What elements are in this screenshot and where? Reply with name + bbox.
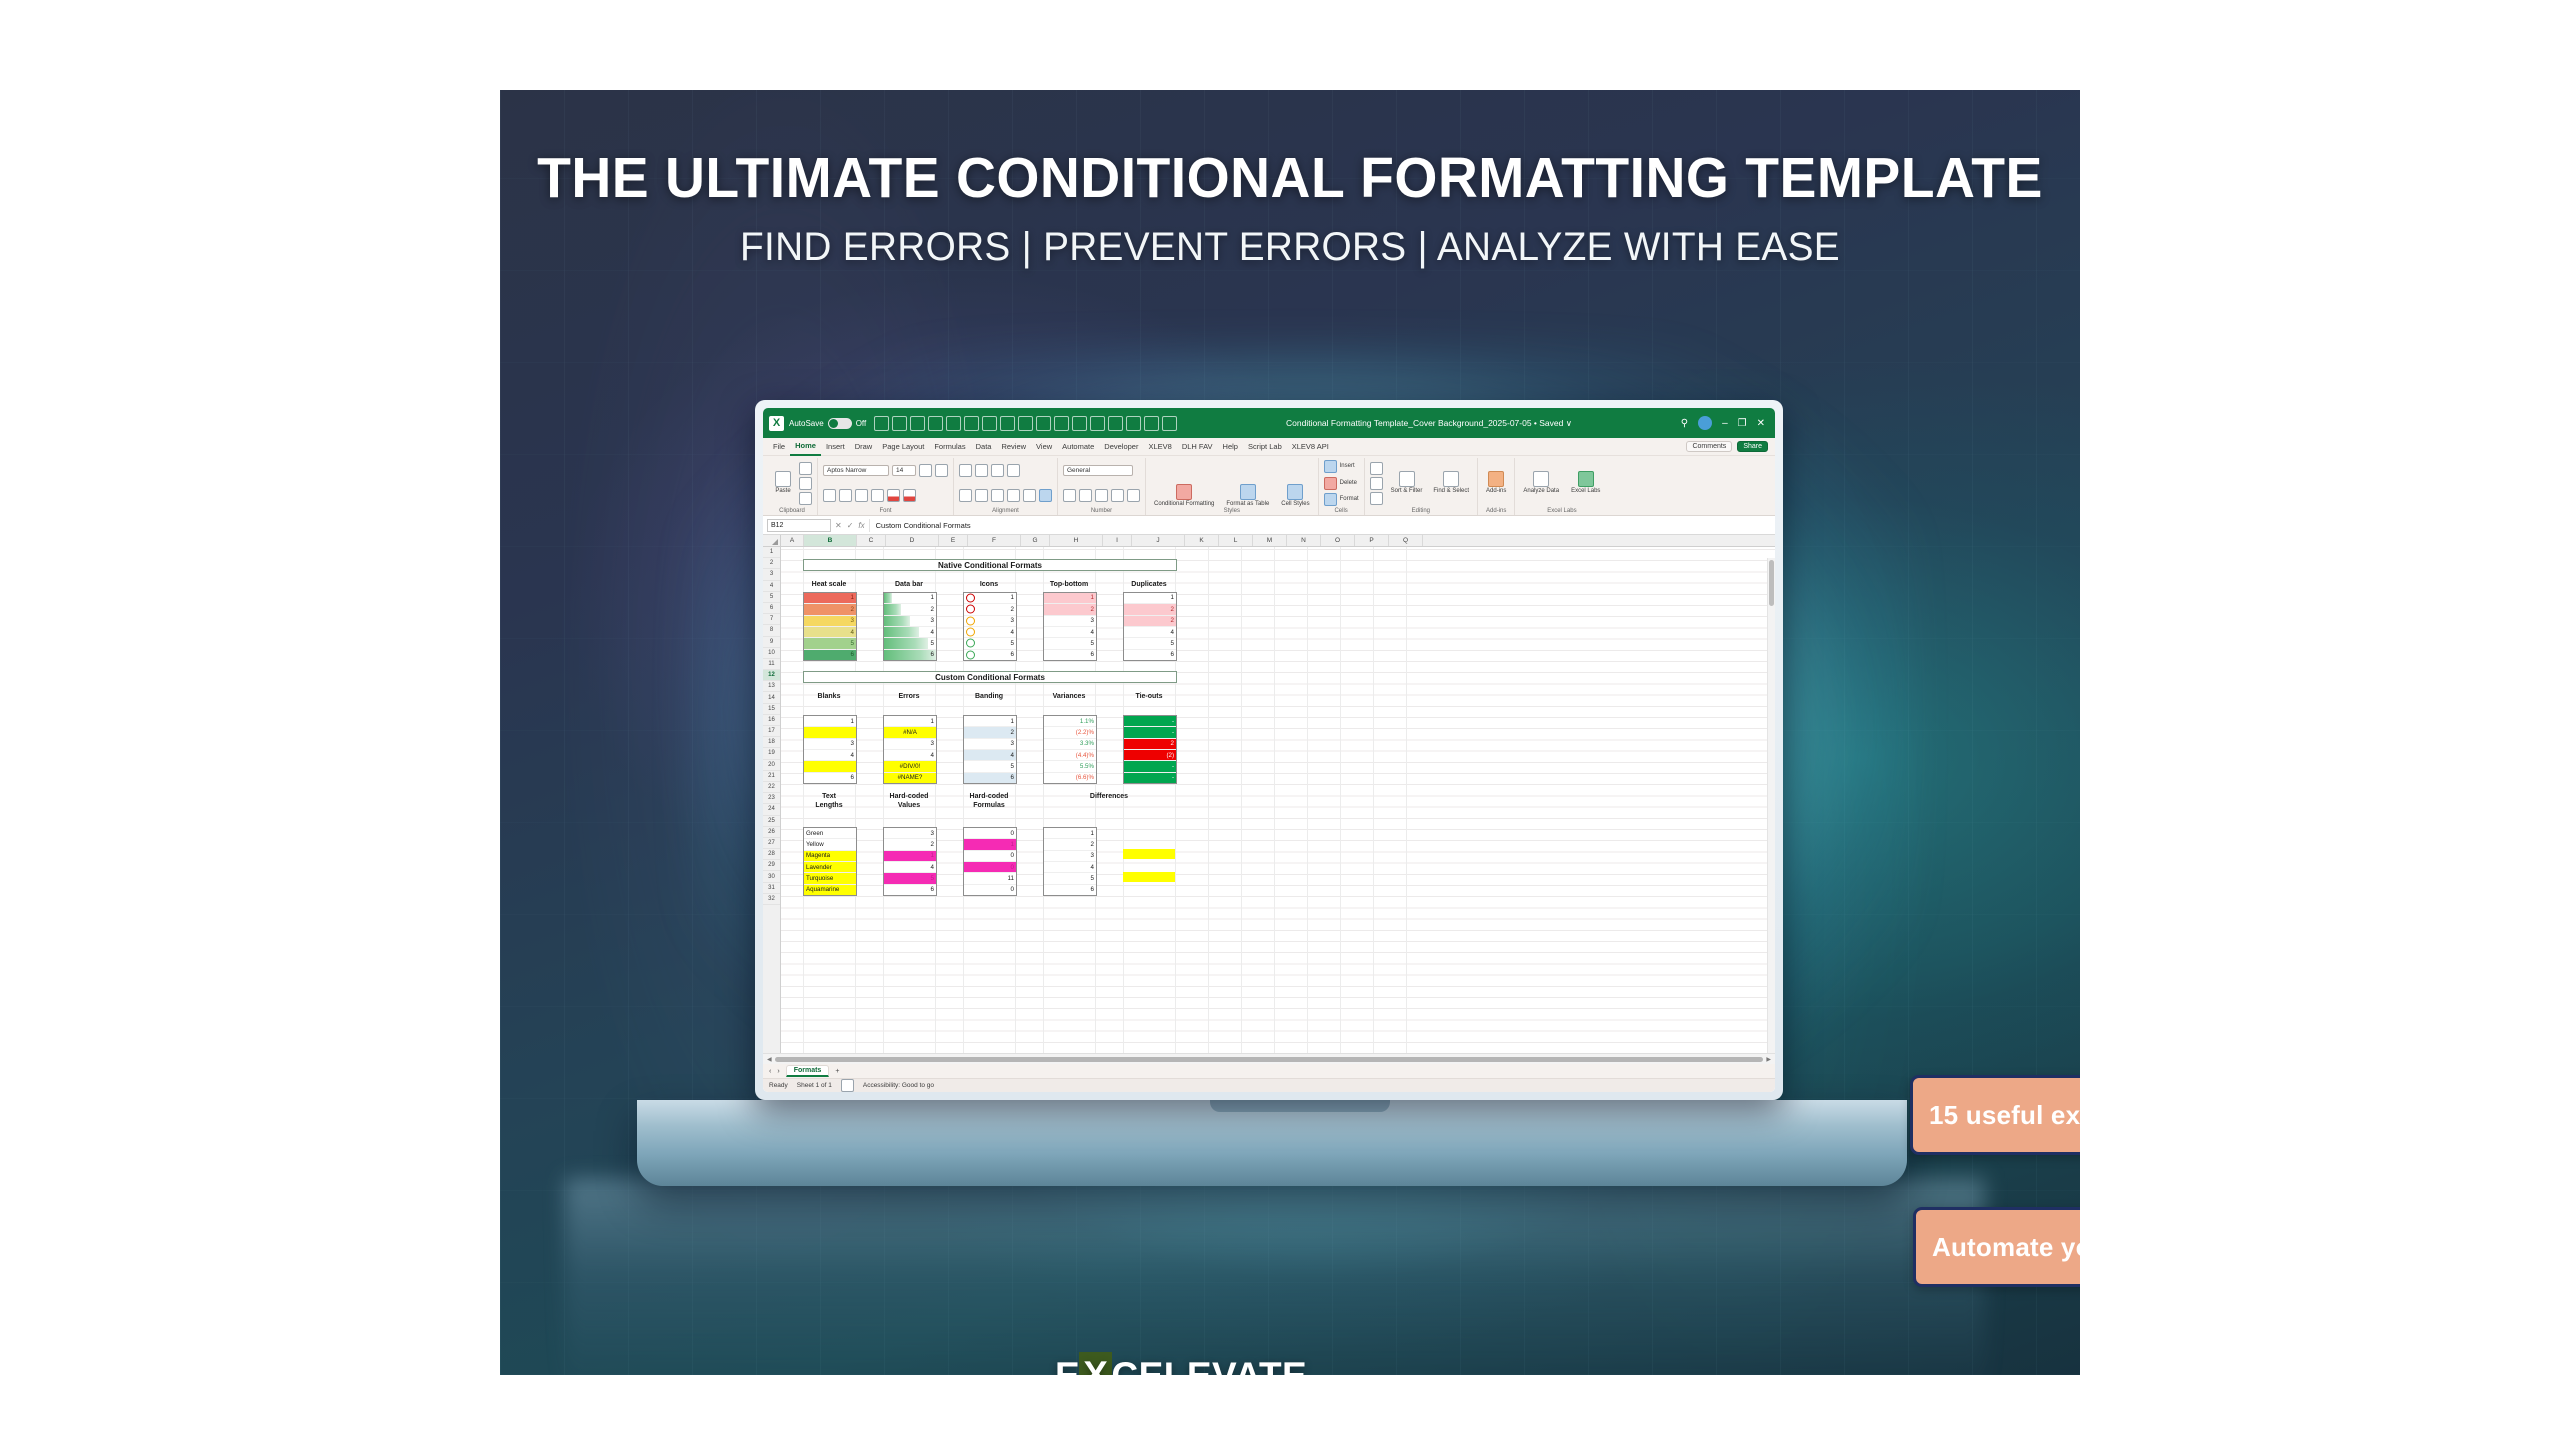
close-button[interactable]: ✕ bbox=[1757, 418, 1765, 429]
find-select-button[interactable]: Find & Select bbox=[1430, 471, 1472, 495]
table-icons[interactable]: 123456 bbox=[963, 592, 1017, 661]
cell-value: 3 bbox=[931, 830, 934, 837]
insert-cells-label[interactable]: Insert bbox=[1340, 463, 1355, 470]
cell-data-bar-1[interactable]: 1 bbox=[884, 593, 936, 604]
table-banding[interactable]: 123456 bbox=[963, 715, 1017, 784]
formula-input[interactable]: Custom Conditional Formats bbox=[869, 519, 1771, 532]
slide-background: THE ULTIMATE CONDITIONAL FORMATTING TEMP… bbox=[500, 90, 2080, 1375]
row-header-28[interactable]: 28 bbox=[763, 849, 780, 860]
cell-heat-scale-2[interactable]: 2 bbox=[804, 604, 856, 615]
align-right-icon[interactable] bbox=[991, 489, 1004, 502]
ribbon-group-styles: Conditional Formatting Format as Table C… bbox=[1146, 458, 1319, 515]
cell-heat-scale-6[interactable]: 6 bbox=[804, 650, 856, 660]
qat-new-icon[interactable] bbox=[892, 416, 907, 431]
sheet-tab-bar[interactable]: ‹ › Formats + bbox=[763, 1064, 1775, 1078]
cell-banding-5[interactable]: 5 bbox=[964, 761, 1016, 772]
fill-color-icon[interactable] bbox=[887, 489, 900, 502]
decrease-decimal-icon[interactable] bbox=[1127, 489, 1140, 502]
underline-icon[interactable] bbox=[855, 489, 868, 502]
accounting-format-icon[interactable] bbox=[1063, 489, 1076, 502]
ribbon-group-alignment: Alignment bbox=[954, 458, 1058, 515]
cut-icon[interactable] bbox=[799, 462, 812, 475]
select-all-corner[interactable] bbox=[763, 535, 781, 546]
delete-cells-label[interactable]: Delete bbox=[1340, 480, 1357, 487]
cell-top-bottom-1[interactable]: 1 bbox=[1044, 593, 1096, 604]
quick-access-toolbar[interactable] bbox=[874, 416, 1177, 431]
qat-open-icon[interactable] bbox=[910, 416, 925, 431]
cell-hard-coded-formulas-6[interactable]: 0 bbox=[964, 885, 1016, 895]
cell-differences-3[interactable]: 3 bbox=[1044, 851, 1096, 862]
insert-function-icon[interactable]: fx bbox=[858, 521, 864, 530]
status-accessibility[interactable]: Accessibility: Good to go bbox=[863, 1082, 934, 1089]
tab-script-lab[interactable]: Script Lab bbox=[1243, 438, 1287, 455]
horizontal-scroll-thumb[interactable] bbox=[775, 1057, 1764, 1062]
cell-icons-1[interactable]: 1 bbox=[964, 593, 1016, 604]
qat-grid-icon[interactable] bbox=[1162, 416, 1177, 431]
vertical-scrollbar[interactable] bbox=[1767, 558, 1775, 1053]
row-header-20[interactable]: 20 bbox=[763, 760, 780, 771]
row-header-17[interactable]: 17 bbox=[763, 726, 780, 737]
align-middle-icon[interactable] bbox=[975, 464, 988, 477]
cell-hard-coded-values-1[interactable]: 3 bbox=[884, 828, 936, 839]
sheet-cells-area[interactable]: Native Conditional FormatsCustom Conditi… bbox=[781, 547, 1775, 1053]
cell-value: 4 bbox=[851, 752, 854, 759]
autosum-icon[interactable] bbox=[1370, 462, 1383, 475]
table-text-lengths[interactable]: GreenYellowMagentaLavenderTurquoiseAquam… bbox=[803, 827, 857, 896]
cell-duplicates-2[interactable]: 2 bbox=[1124, 604, 1176, 615]
cell-icons-6[interactable]: 6 bbox=[964, 650, 1016, 660]
insert-cells-icon[interactable] bbox=[1324, 460, 1337, 473]
horizontal-scrollbar[interactable]: ◀ ▶ bbox=[763, 1053, 1775, 1064]
column-header-e[interactable]: E bbox=[939, 535, 968, 546]
excelevate-logo: EXCELEVATE bbox=[1055, 1352, 1307, 1375]
cell-errors-3[interactable]: 3 bbox=[884, 739, 936, 750]
column-header-c[interactable]: C bbox=[857, 535, 886, 546]
cell-banding-4[interactable]: 4 bbox=[964, 750, 1016, 761]
table-differences[interactable]: 123456 bbox=[1043, 827, 1097, 896]
format-cells-icon[interactable] bbox=[1324, 493, 1337, 506]
cell-differences-6[interactable]: 6 bbox=[1044, 885, 1096, 895]
table-hard-coded-formulas[interactable]: 0100110 bbox=[963, 827, 1017, 896]
cell-tie-outs-3[interactable]: 2 bbox=[1124, 739, 1176, 750]
increase-font-icon[interactable] bbox=[919, 464, 932, 477]
borders-icon[interactable] bbox=[871, 489, 884, 502]
search-icon[interactable]: ⚲ bbox=[1681, 418, 1688, 429]
row-header-8[interactable]: 8 bbox=[763, 625, 780, 636]
row-header-23[interactable]: 23 bbox=[763, 793, 780, 804]
cell-tie-outs-2[interactable]: - bbox=[1124, 727, 1176, 738]
column-header-g[interactable]: G bbox=[1021, 535, 1050, 546]
cell-banding-6[interactable]: 6 bbox=[964, 773, 1016, 783]
table-duplicates[interactable]: 122456 bbox=[1123, 592, 1177, 661]
qat-redo-icon[interactable] bbox=[982, 416, 997, 431]
tab-home[interactable]: Home bbox=[790, 437, 821, 456]
col-label-blanks: Blanks bbox=[803, 692, 855, 701]
row-header-31[interactable]: 31 bbox=[763, 883, 780, 894]
column-header-h[interactable]: H bbox=[1050, 535, 1103, 546]
row-header-4[interactable]: 4 bbox=[763, 581, 780, 592]
row-header-15[interactable]: 15 bbox=[763, 704, 780, 715]
excel-labs-button[interactable]: Excel Labs bbox=[1568, 471, 1603, 495]
cell-duplicates-3[interactable]: 2 bbox=[1124, 616, 1176, 627]
cell-icons-2[interactable]: 2 bbox=[964, 604, 1016, 615]
cell-heat-scale-1[interactable]: 1 bbox=[804, 593, 856, 604]
cell-banding-3[interactable]: 3 bbox=[964, 739, 1016, 750]
align-center-icon[interactable] bbox=[975, 489, 988, 502]
align-left-icon[interactable] bbox=[959, 489, 972, 502]
cell-value: 2 bbox=[1171, 740, 1174, 747]
format-painter-icon[interactable] bbox=[799, 492, 812, 505]
row-header-16[interactable]: 16 bbox=[763, 715, 780, 726]
grid-body[interactable]: 1234567891011121314151617181920212223242… bbox=[763, 547, 1775, 1053]
tab-file[interactable]: File bbox=[768, 438, 790, 455]
align-bottom-icon[interactable] bbox=[991, 464, 1004, 477]
cell-data-bar-4[interactable]: 4 bbox=[884, 627, 936, 638]
cell-top-bottom-2[interactable]: 2 bbox=[1044, 604, 1096, 615]
cancel-icon[interactable]: ✕ bbox=[835, 521, 842, 530]
cell-variances-4[interactable]: (4.4)% bbox=[1044, 750, 1096, 761]
table-variances[interactable]: 1.1%(2.2)%3.3%(4.4)%5.5%(6.6)% bbox=[1043, 715, 1097, 784]
qat-save-icon[interactable] bbox=[928, 416, 943, 431]
tab-developer[interactable]: Developer bbox=[1099, 438, 1143, 455]
increase-indent-icon[interactable] bbox=[1023, 489, 1036, 502]
tab-help[interactable]: Help bbox=[1218, 438, 1243, 455]
cell-data-bar-6[interactable]: 6 bbox=[884, 650, 936, 660]
bold-icon[interactable] bbox=[823, 489, 836, 502]
column-header-p[interactable]: P bbox=[1355, 535, 1389, 546]
cell-variances-6[interactable]: (6.6)% bbox=[1044, 773, 1096, 783]
enter-icon[interactable]: ✓ bbox=[847, 521, 854, 530]
column-header-j[interactable]: J bbox=[1132, 535, 1185, 546]
conditional-formatting-icon bbox=[1176, 484, 1192, 500]
cell-blanks-1[interactable]: 1 bbox=[804, 716, 856, 727]
cell-text-lengths-3[interactable]: Magenta bbox=[804, 851, 856, 862]
group-label-editing: Editing bbox=[1370, 508, 1472, 515]
column-header-b[interactable]: B bbox=[804, 535, 857, 546]
qat-menu-icon[interactable] bbox=[874, 416, 889, 431]
row-header-24[interactable]: 24 bbox=[763, 804, 780, 815]
qat-filter-icon[interactable] bbox=[1108, 416, 1123, 431]
font-name-box[interactable]: Aptos Narrow bbox=[823, 465, 889, 476]
hscroll-right-arrow[interactable]: ▶ bbox=[1766, 1056, 1771, 1063]
cell-hard-coded-formulas-3[interactable]: 0 bbox=[964, 851, 1016, 862]
cell-value: 2 bbox=[1011, 729, 1014, 736]
cell-banding-1[interactable]: 1 bbox=[964, 716, 1016, 727]
copy-icon[interactable] bbox=[799, 477, 812, 490]
tab-xlev8[interactable]: XLEV8 bbox=[1143, 438, 1176, 455]
cell-errors-4[interactable]: 4 bbox=[884, 750, 936, 761]
databar-data-bar-3 bbox=[884, 616, 910, 626]
cell-variances-2[interactable]: (2.2)% bbox=[1044, 727, 1096, 738]
cell-tie-outs-4[interactable]: (2) bbox=[1124, 750, 1176, 761]
cell-styles-button[interactable]: Cell Styles bbox=[1278, 484, 1312, 508]
cell-duplicates-4[interactable]: 4 bbox=[1124, 627, 1176, 638]
font-size-box[interactable]: 14 bbox=[892, 465, 916, 476]
cell-hard-coded-values-4[interactable]: 4 bbox=[884, 862, 936, 873]
column-header-i[interactable]: I bbox=[1103, 535, 1132, 546]
cell-differences-4[interactable]: 4 bbox=[1044, 862, 1096, 873]
row-header-29[interactable]: 29 bbox=[763, 860, 780, 871]
row-header-13[interactable]: 13 bbox=[763, 681, 780, 692]
restore-button[interactable]: ❐ bbox=[1738, 418, 1747, 429]
cell-errors-6[interactable]: #NAME? bbox=[884, 773, 936, 783]
cell-blanks-3[interactable]: 3 bbox=[804, 739, 856, 750]
cell-text-lengths-2[interactable]: Yellow bbox=[804, 839, 856, 850]
italic-icon[interactable] bbox=[839, 489, 852, 502]
cell-icons-4[interactable]: 4 bbox=[964, 627, 1016, 638]
analyze-data-icon bbox=[1533, 471, 1549, 487]
cell-duplicates-6[interactable]: 6 bbox=[1124, 650, 1176, 660]
cell-heat-scale-3[interactable]: 3 bbox=[804, 616, 856, 627]
cell-icons-3[interactable]: 3 bbox=[964, 616, 1016, 627]
column-headers[interactable]: ABCDEFGHIJKLMNOPQ bbox=[763, 535, 1775, 547]
minimize-button[interactable]: – bbox=[1722, 418, 1728, 429]
paste-button[interactable]: Paste bbox=[772, 471, 794, 495]
row-header-30[interactable]: 30 bbox=[763, 871, 780, 882]
decrease-indent-icon[interactable] bbox=[1007, 489, 1020, 502]
cell-hard-coded-formulas-5[interactable]: 11 bbox=[964, 873, 1016, 884]
qat-saveas-icon[interactable] bbox=[946, 416, 961, 431]
delete-cells-icon[interactable] bbox=[1324, 477, 1337, 490]
cell-heat-scale-4[interactable]: 4 bbox=[804, 627, 856, 638]
row-header-25[interactable]: 25 bbox=[763, 816, 780, 827]
cell-banding-2[interactable]: 2 bbox=[964, 727, 1016, 738]
decrease-font-icon[interactable] bbox=[935, 464, 948, 477]
autosave-switch[interactable] bbox=[828, 418, 852, 429]
column-header-o[interactable]: O bbox=[1321, 535, 1355, 546]
cell-variances-5[interactable]: 5.5% bbox=[1044, 761, 1096, 772]
cell-tie-outs-1[interactable]: - bbox=[1124, 716, 1176, 727]
cell-value: 1.1% bbox=[1080, 718, 1094, 725]
row-header-6[interactable]: 6 bbox=[763, 603, 780, 614]
record-macro-icon[interactable] bbox=[841, 1079, 854, 1092]
hscroll-left-arrow[interactable]: ◀ bbox=[767, 1056, 772, 1063]
laptop-mockup: X AutoSave Off bbox=[755, 400, 1845, 1160]
cell-blanks-6[interactable]: 6 bbox=[804, 773, 856, 783]
formula-bar-icons[interactable]: ✕ ✓ fx bbox=[835, 521, 865, 530]
qat-undo-icon[interactable] bbox=[964, 416, 979, 431]
cell-hard-coded-values-5[interactable]: 5 bbox=[884, 873, 936, 884]
row-header-9[interactable]: 9 bbox=[763, 637, 780, 648]
row-header-10[interactable]: 10 bbox=[763, 648, 780, 659]
column-header-l[interactable]: L bbox=[1219, 535, 1253, 546]
add-sheet-button[interactable]: + bbox=[835, 1068, 839, 1075]
cell-duplicates-1[interactable]: 1 bbox=[1124, 593, 1176, 604]
cell-blanks-5[interactable] bbox=[804, 761, 856, 772]
fill-icon[interactable] bbox=[1370, 477, 1383, 490]
cell-text-lengths-5[interactable]: Turquoise bbox=[804, 873, 856, 884]
formula-bar[interactable]: B12 ✕ ✓ fx Custom Conditional Formats bbox=[763, 516, 1775, 535]
cell-hard-coded-values-2[interactable]: 2 bbox=[884, 839, 936, 850]
cell-value: 0 bbox=[1011, 830, 1014, 837]
qat-macro-icon[interactable] bbox=[1144, 416, 1159, 431]
cell-top-bottom-5[interactable]: 5 bbox=[1044, 638, 1096, 649]
conditional-formatting-button[interactable]: Conditional Formatting bbox=[1151, 484, 1217, 508]
qat-table-icon[interactable] bbox=[1054, 416, 1069, 431]
table-hard-coded-values[interactable]: 321456 bbox=[883, 827, 937, 896]
qat-paste-icon[interactable] bbox=[1000, 416, 1015, 431]
row-headers[interactable]: 1234567891011121314151617181920212223242… bbox=[763, 547, 781, 1053]
add-ins-button[interactable]: Add-ins bbox=[1483, 471, 1509, 495]
tab-draw[interactable]: Draw bbox=[850, 438, 878, 455]
cell-differences-2[interactable]: 2 bbox=[1044, 839, 1096, 850]
table-tie-outs[interactable]: --2(2)-- bbox=[1123, 715, 1177, 784]
ribbon-tab-strip[interactable]: File Home Insert Draw Page Layout Formul… bbox=[763, 438, 1775, 456]
row-header-1[interactable]: 1 bbox=[763, 547, 780, 558]
cell-top-bottom-6[interactable]: 6 bbox=[1044, 650, 1096, 660]
font-color-icon[interactable] bbox=[903, 489, 916, 502]
format-as-table-button[interactable]: Format as Table bbox=[1223, 484, 1272, 508]
column-header-a[interactable]: A bbox=[781, 535, 804, 546]
icon-yellow-icons-4 bbox=[966, 628, 975, 637]
row-header-14[interactable]: 14 bbox=[763, 692, 780, 703]
cell-differences-1[interactable]: 1 bbox=[1044, 828, 1096, 839]
cell-data-bar-5[interactable]: 5 bbox=[884, 638, 936, 649]
percent-format-icon[interactable] bbox=[1079, 489, 1092, 502]
row-header-5[interactable]: 5 bbox=[763, 592, 780, 603]
row-header-7[interactable]: 7 bbox=[763, 614, 780, 625]
row-header-18[interactable]: 18 bbox=[763, 737, 780, 748]
ribbon-group-editing: Sort & Filter Find & Select Editing bbox=[1365, 458, 1478, 515]
cell-hard-coded-values-6[interactable]: 6 bbox=[884, 885, 936, 895]
number-format-box[interactable]: General bbox=[1063, 465, 1133, 476]
cell-value: 5 bbox=[1011, 763, 1014, 770]
cell-hard-coded-values-3[interactable]: 1 bbox=[884, 851, 936, 862]
cell-differences-5[interactable]: 5 bbox=[1044, 873, 1096, 884]
cell-errors-1[interactable]: 1 bbox=[884, 716, 936, 727]
cell-top-bottom-4[interactable]: 4 bbox=[1044, 627, 1096, 638]
prev-sheet-arrow[interactable]: ‹ bbox=[769, 1068, 771, 1075]
cell-duplicates-5[interactable]: 5 bbox=[1124, 638, 1176, 649]
cell-value: 3 bbox=[1011, 740, 1014, 747]
tab-formulas[interactable]: Formulas bbox=[929, 438, 970, 455]
column-header-n[interactable]: N bbox=[1287, 535, 1321, 546]
row-header-3[interactable]: 3 bbox=[763, 569, 780, 580]
ribbon-right-actions[interactable]: Comments Share bbox=[1686, 441, 1770, 452]
tab-xlev8-api[interactable]: XLEV8 API bbox=[1287, 438, 1334, 455]
analyze-data-button[interactable]: Analyze Data bbox=[1520, 471, 1562, 495]
name-box[interactable]: B12 bbox=[767, 519, 831, 532]
comma-format-icon[interactable] bbox=[1095, 489, 1108, 502]
next-sheet-arrow[interactable]: › bbox=[777, 1068, 779, 1075]
cell-blanks-2[interactable] bbox=[804, 727, 856, 738]
cell-icons-5[interactable]: 5 bbox=[964, 638, 1016, 649]
window-controls[interactable]: ⚲ – ❐ ✕ bbox=[1681, 416, 1769, 430]
tab-data[interactable]: Data bbox=[971, 438, 997, 455]
row-header-27[interactable]: 27 bbox=[763, 838, 780, 849]
tab-view[interactable]: View bbox=[1031, 438, 1057, 455]
orientation-icon[interactable] bbox=[1007, 464, 1020, 477]
cell-variances-3[interactable]: 3.3% bbox=[1044, 739, 1096, 750]
cell-styles-icon bbox=[1287, 484, 1303, 500]
icon-green-icons-5 bbox=[966, 639, 975, 648]
cell-hard-coded-formulas-1[interactable]: 0 bbox=[964, 828, 1016, 839]
cell-blanks-4[interactable]: 4 bbox=[804, 750, 856, 761]
merge-center-icon[interactable] bbox=[1039, 489, 1052, 502]
column-header-q[interactable]: Q bbox=[1389, 535, 1423, 546]
tab-automate[interactable]: Automate bbox=[1057, 438, 1099, 455]
table-errors[interactable]: 1#N/A34#DIV/0!#NAME? bbox=[883, 715, 937, 784]
column-header-m[interactable]: M bbox=[1253, 535, 1287, 546]
ribbon-body[interactable]: Paste Clipboard bbox=[763, 456, 1775, 516]
cell-errors-2[interactable]: #N/A bbox=[884, 727, 936, 738]
row-header-19[interactable]: 19 bbox=[763, 748, 780, 759]
qat-print-icon[interactable] bbox=[1126, 416, 1141, 431]
row-header-26[interactable]: 26 bbox=[763, 827, 780, 838]
cell-value: 5 bbox=[1091, 875, 1094, 882]
row-header-32[interactable]: 32 bbox=[763, 894, 780, 905]
format-cells-label[interactable]: Format bbox=[1340, 496, 1359, 503]
qat-sheet-icon[interactable] bbox=[1072, 416, 1087, 431]
clear-icon[interactable] bbox=[1370, 492, 1383, 505]
cell-errors-5[interactable]: #DIV/0! bbox=[884, 761, 936, 772]
sort-filter-button[interactable]: Sort & Filter bbox=[1388, 471, 1426, 495]
table-top-bottom[interactable]: 123456 bbox=[1043, 592, 1097, 661]
table-data-bar[interactable]: 123456 bbox=[883, 592, 937, 661]
sheet-tab-formats[interactable]: Formats bbox=[786, 1065, 830, 1077]
row-header-12[interactable]: 12 bbox=[763, 670, 780, 681]
cell-hard-coded-formulas-4[interactable]: 0 bbox=[964, 862, 1016, 873]
tab-page-layout[interactable]: Page Layout bbox=[877, 438, 929, 455]
row-header-21[interactable]: 21 bbox=[763, 771, 780, 782]
row-header-22[interactable]: 22 bbox=[763, 782, 780, 793]
increase-decimal-icon[interactable] bbox=[1111, 489, 1124, 502]
find-select-icon bbox=[1443, 471, 1459, 487]
cell-value: 5 bbox=[931, 640, 934, 647]
tab-review[interactable]: Review bbox=[996, 438, 1031, 455]
qat-format-icon[interactable] bbox=[1036, 416, 1051, 431]
cell-value: 4 bbox=[931, 752, 934, 759]
cell-text-lengths-1[interactable]: Green bbox=[804, 828, 856, 839]
qat-chart-icon[interactable] bbox=[1090, 416, 1105, 431]
cell-value: 4 bbox=[851, 629, 854, 636]
column-header-d[interactable]: D bbox=[886, 535, 939, 546]
column-header-k[interactable]: K bbox=[1185, 535, 1219, 546]
cell-tie-outs-5[interactable]: - bbox=[1124, 761, 1176, 772]
cell-value: Lavender bbox=[806, 864, 832, 871]
column-header-f[interactable]: F bbox=[968, 535, 1021, 546]
tab-insert[interactable]: Insert bbox=[821, 438, 850, 455]
cell-data-bar-3[interactable]: 3 bbox=[884, 616, 936, 627]
cell-heat-scale-5[interactable]: 5 bbox=[804, 638, 856, 649]
cell-value: Magenta bbox=[806, 852, 830, 859]
table-blanks[interactable]: 1346 bbox=[803, 715, 857, 784]
table-heat-scale[interactable]: 123456 bbox=[803, 592, 857, 661]
excel-title-bar: X AutoSave Off bbox=[763, 408, 1775, 438]
cell-text-lengths-4[interactable]: Lavender bbox=[804, 862, 856, 873]
cell-value: 1 bbox=[851, 718, 854, 725]
cell-value: 4 bbox=[1011, 629, 1014, 636]
comments-button[interactable]: Comments bbox=[1686, 441, 1732, 452]
row-header-2[interactable]: 2 bbox=[763, 558, 780, 569]
cell-hard-coded-formulas-2[interactable]: 1 bbox=[964, 839, 1016, 850]
align-top-icon[interactable] bbox=[959, 464, 972, 477]
account-avatar[interactable] bbox=[1698, 416, 1712, 430]
qat-copy-icon[interactable] bbox=[1018, 416, 1033, 431]
cell-variances-1[interactable]: 1.1% bbox=[1044, 716, 1096, 727]
autosave-toggle[interactable]: AutoSave Off bbox=[789, 418, 866, 429]
tab-dlh-fav[interactable]: DLH FAV bbox=[1177, 438, 1218, 455]
cell-top-bottom-3[interactable]: 3 bbox=[1044, 616, 1096, 627]
vertical-scroll-thumb[interactable] bbox=[1769, 560, 1774, 606]
share-button[interactable]: Share bbox=[1737, 441, 1768, 452]
spreadsheet-grid[interactable]: ABCDEFGHIJKLMNOPQ 1234567891011121314151… bbox=[763, 535, 1775, 1092]
cell-tie-outs-6[interactable]: - bbox=[1124, 773, 1176, 783]
cell-data-bar-2[interactable]: 2 bbox=[884, 604, 936, 615]
row-header-11[interactable]: 11 bbox=[763, 659, 780, 670]
cell-text-lengths-6[interactable]: Aquamarine bbox=[804, 885, 856, 895]
status-mode: Ready bbox=[769, 1082, 788, 1089]
